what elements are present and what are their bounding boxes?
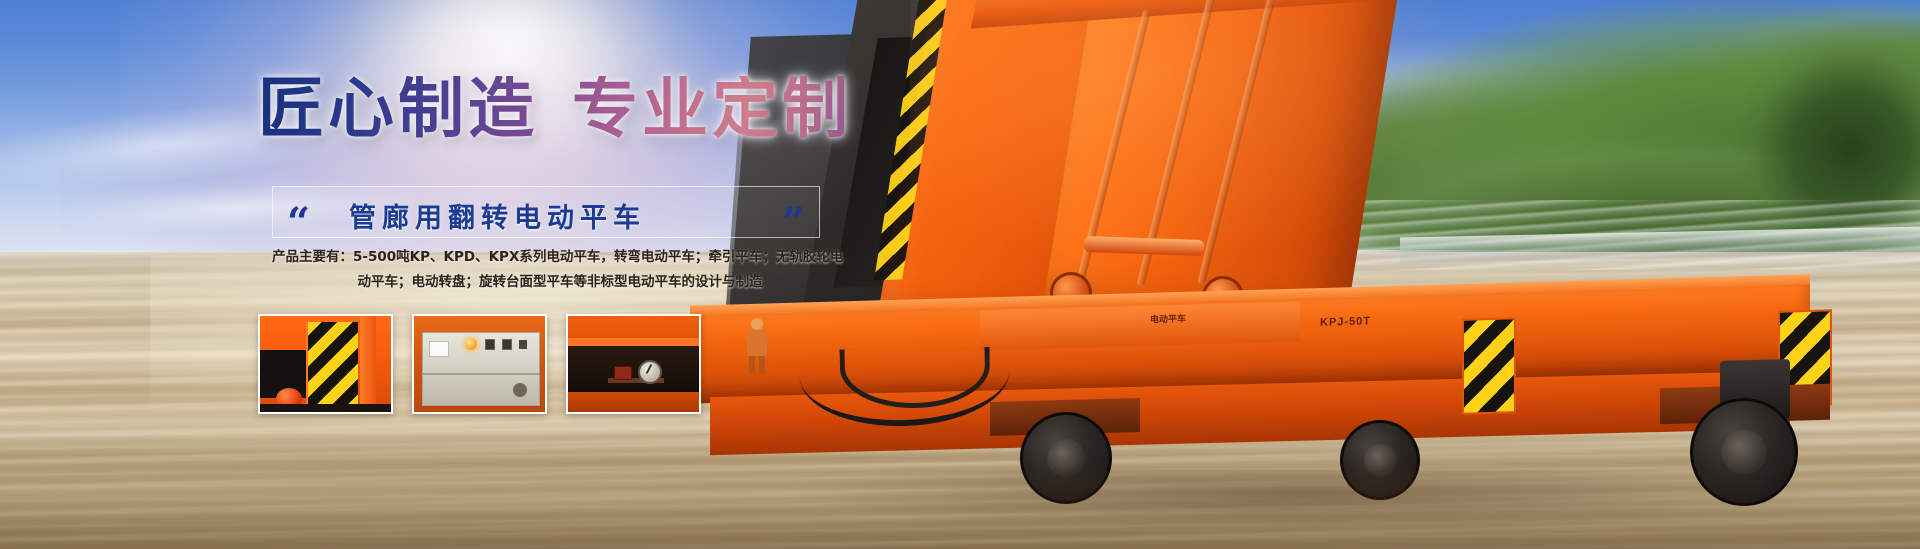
- description-line-1: 产品主要有：5-500吨KP、KPD、KPX系列电动平车，转弯电动平车；牵引平车…: [272, 245, 842, 270]
- hero-banner: 电动平车 KPJ-50T 匠心制造专业定制 “ 管廊用翻转电动平车: [0, 0, 1920, 549]
- quote-open-icon: “: [287, 203, 310, 243]
- thumb2-indicator-lamp: [465, 338, 477, 350]
- cart-shadow: [800, 470, 1800, 530]
- chassis-hazard-stripe: [1462, 317, 1516, 415]
- thumbnail-hazard-bumper[interactable]: [258, 314, 393, 414]
- headline-part-1: 匠心制造: [258, 70, 538, 147]
- thumb3-cavity: [568, 346, 701, 394]
- worker-leg: [759, 356, 765, 374]
- thumb3-valve: [614, 366, 632, 380]
- cart-deck-label: KPJ-50T: [1320, 315, 1371, 328]
- wheel-rim: [1722, 430, 1767, 475]
- banner-subtitle-box: “ 管廊用翻转电动平车 ”: [272, 186, 820, 238]
- thumb1-hazard: [306, 322, 358, 410]
- banner-subtitle: 管廊用翻转电动平车: [349, 196, 646, 235]
- thumb2-switch: [502, 339, 512, 350]
- headline-part-2: 专业定制: [572, 70, 852, 147]
- banner-description: 产品主要有：5-500吨KP、KPD、KPX系列电动平车，转弯电动平车；牵引平车…: [272, 245, 842, 295]
- description-line-2: 动平车；电动转盘；旋转台面型平车等非标型电动平车的设计与制造: [272, 270, 842, 295]
- worker-leg: [749, 356, 755, 374]
- thumbnail-control-cabinet[interactable]: [412, 314, 547, 414]
- thumb3-floor: [568, 392, 701, 412]
- thumb1-floor: [260, 404, 393, 412]
- thumb1-post: [360, 316, 376, 414]
- banner-text-block: 匠心制造专业定制 “ 管廊用翻转电动平车 ” 产品主要有：5-500吨KP、KP…: [0, 0, 1100, 340]
- quote-close-icon: ”: [782, 203, 805, 243]
- thumb2-switch: [519, 340, 527, 349]
- thumbnail-gauge-valve[interactable]: [566, 314, 701, 414]
- cart-deck-sublabel: 电动平车: [1150, 311, 1186, 325]
- thumb2-panel: [422, 332, 540, 406]
- thumb2-nameplate: [429, 341, 449, 357]
- thumb2-switch: [485, 339, 495, 350]
- thumb2-seam: [423, 373, 541, 375]
- product-thumbnail-strip: [258, 314, 701, 414]
- banner-headline: 匠心制造专业定制: [258, 76, 852, 142]
- thumb2-knob: [513, 383, 527, 397]
